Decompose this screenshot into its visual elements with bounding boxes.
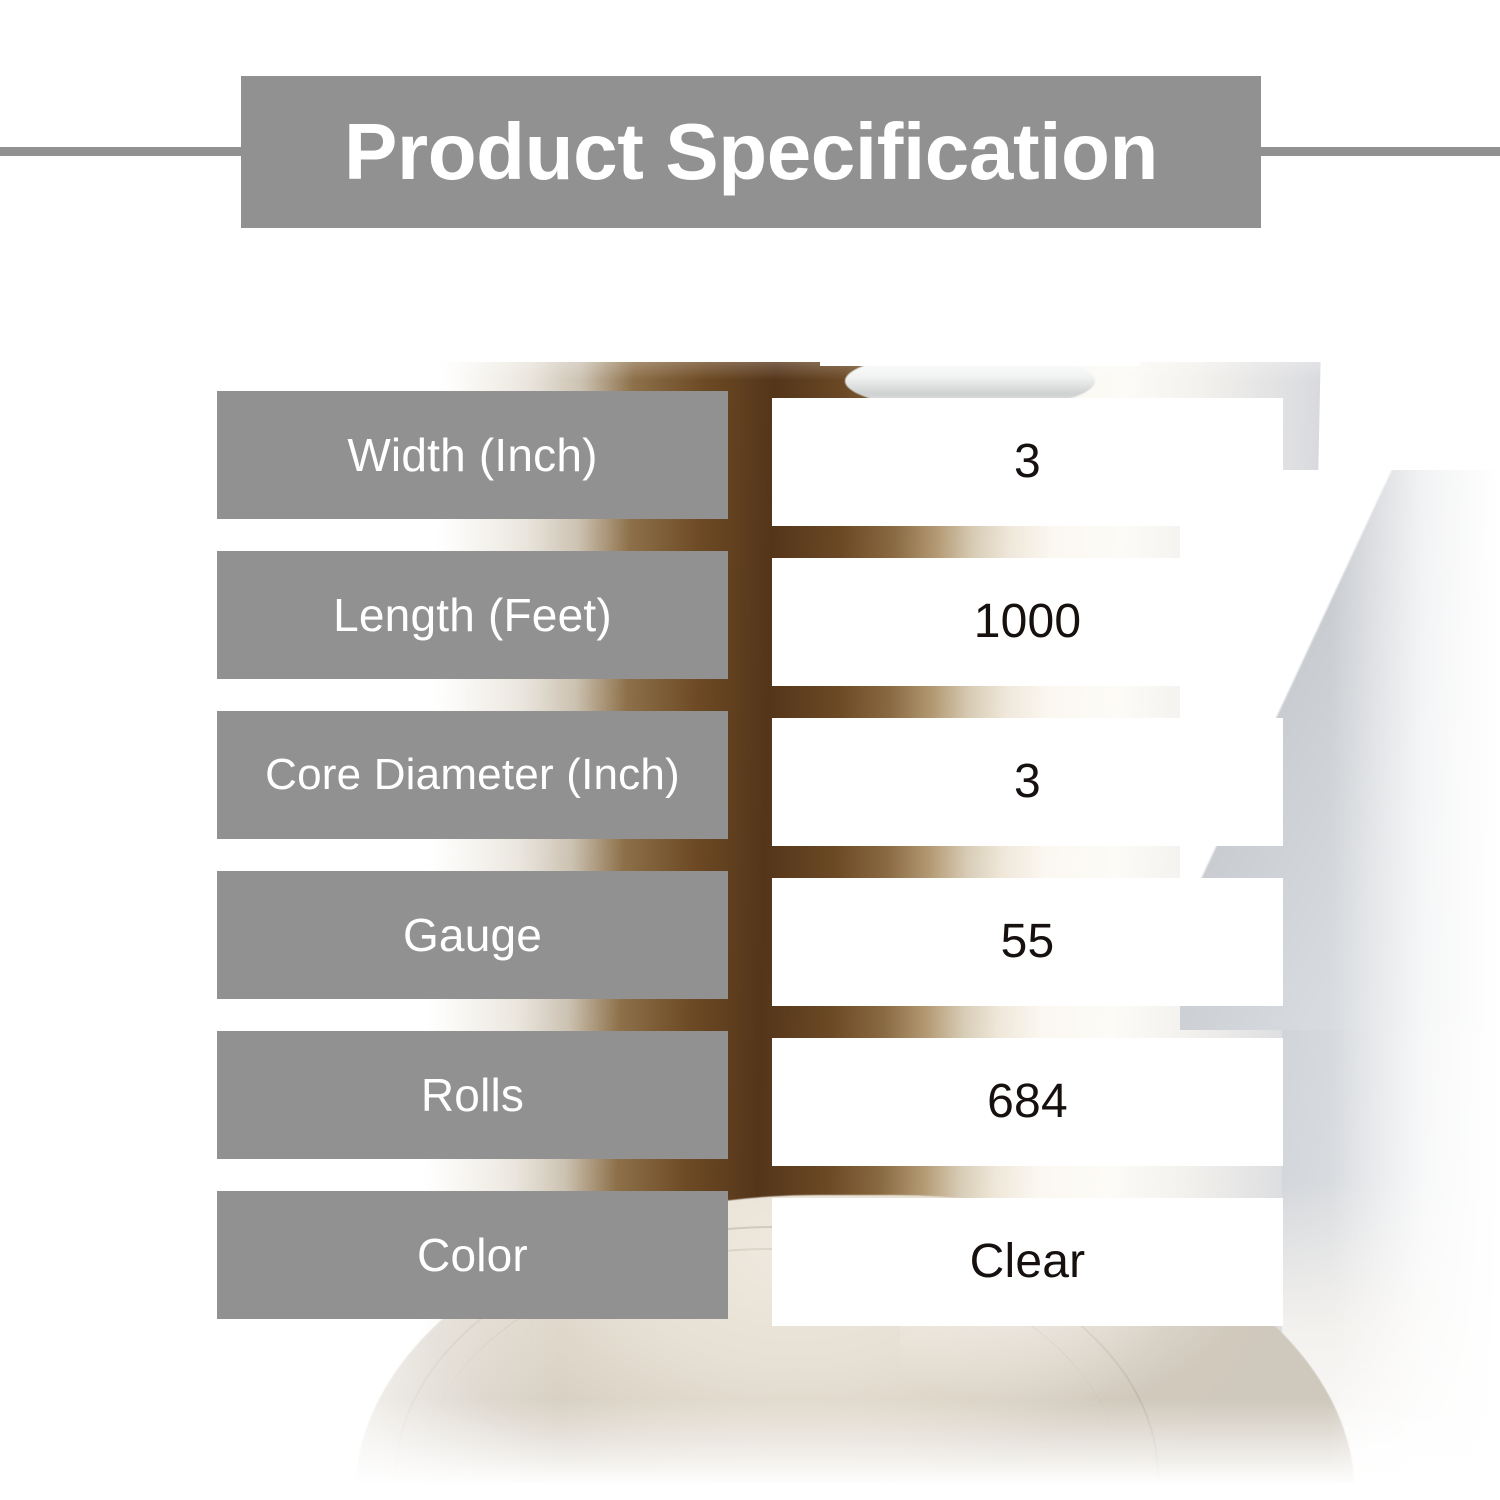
spec-label-text: Rolls (421, 1072, 524, 1119)
spec-value-color: Clear (772, 1198, 1283, 1326)
spec-value-rolls: 684 (772, 1038, 1283, 1166)
spec-label-text: Length (Feet) (333, 592, 612, 639)
page-title: Product Specification (344, 112, 1158, 192)
spec-row-rolls: Rolls 684 (0, 1031, 1500, 1159)
spec-label-gauge: Gauge (217, 871, 728, 999)
spec-value-text: Clear (970, 1238, 1086, 1287)
spec-label-text: Gauge (403, 912, 542, 959)
spec-label-core-diameter: Core Diameter (Inch) (217, 711, 728, 839)
spec-row-gauge: Gauge 55 (0, 871, 1500, 999)
spec-label-text: Core Diameter (Inch) (265, 752, 680, 799)
spec-label-rolls: Rolls (217, 1031, 728, 1159)
spec-row-length: Length (Feet) 1000 (0, 551, 1500, 679)
spec-label-color: Color (217, 1191, 728, 1319)
spec-value-text: 1000 (974, 598, 1082, 647)
spec-row-color: Color Clear (0, 1191, 1500, 1319)
spec-row-core-diameter: Core Diameter (Inch) 3 (0, 711, 1500, 839)
spec-label-length: Length (Feet) (217, 551, 728, 679)
spec-value-length: 1000 (772, 558, 1283, 686)
header-rule-left (0, 147, 244, 156)
header-rule-right (1258, 147, 1500, 156)
spec-value-width: 3 (772, 398, 1283, 526)
spec-value-text: 3 (1014, 758, 1041, 807)
spec-value-text: 3 (1014, 438, 1041, 487)
spec-label-text: Width (Inch) (347, 432, 597, 479)
spec-label-text: Color (417, 1232, 528, 1279)
header-banner: Product Specification (241, 76, 1261, 228)
spec-row-width: Width (Inch) 3 (0, 391, 1500, 519)
spec-value-gauge: 55 (772, 878, 1283, 1006)
page-header: Product Specification (0, 76, 1500, 228)
spec-value-core-diameter: 3 (772, 718, 1283, 846)
spec-label-width: Width (Inch) (217, 391, 728, 519)
spec-value-text: 55 (1001, 918, 1055, 967)
spec-value-text: 684 (987, 1078, 1068, 1127)
product-specification-page: Product Specification Width (Inch) 3 Len… (0, 0, 1500, 1500)
